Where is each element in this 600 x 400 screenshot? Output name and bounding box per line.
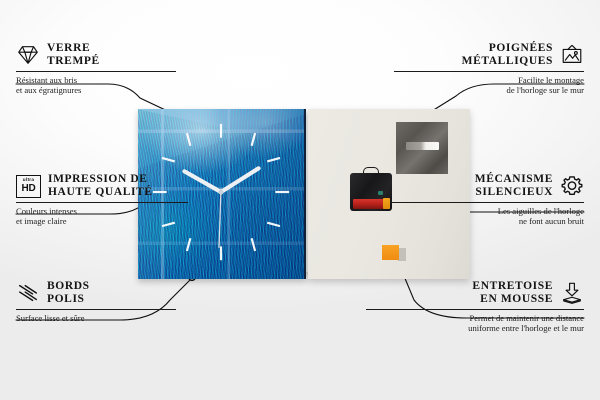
movement-body (350, 173, 392, 211)
feature-header: VERRE TREMPÉ (16, 42, 176, 68)
feature-subtitle: Couleurs intenses et image claire (16, 206, 188, 227)
feature-subtitle: Les aiguilles de l'horloge ne font aucun… (390, 206, 584, 227)
feature-header: MÉCANISME SILENCIEUX (390, 173, 584, 199)
feature-bords-polis: BORDS POLIS Surface lisse et sûre (16, 280, 176, 323)
feature-poignees-metalliques: POIGNÉES MÉTALLIQUES Facilite le montage… (394, 42, 584, 96)
clock-center-cap (218, 189, 223, 194)
diamond-icon (16, 43, 40, 67)
gear-icon (560, 174, 584, 198)
metal-hanger-plate (396, 122, 448, 174)
feature-title: POIGNÉES MÉTALLIQUES (462, 42, 553, 68)
feature-divider (366, 309, 584, 310)
hanger-slot (406, 142, 439, 150)
feature-title: BORDS POLIS (47, 280, 90, 306)
feature-divider (390, 202, 584, 203)
feature-mecanisme-silencieux: MÉCANISME SILENCIEUX Les aiguilles de l'… (390, 173, 584, 227)
movement-label (378, 191, 383, 195)
feature-subtitle: Permet de maintenir une distance uniform… (366, 313, 584, 334)
battery-positive-terminal (383, 198, 390, 209)
feature-subtitle: Résistant aux bris et aux égratignures (16, 75, 176, 96)
feature-title: MÉCANISME SILENCIEUX (475, 173, 553, 199)
feature-divider (16, 309, 176, 310)
feature-title: IMPRESSION DE HAUTE QUALITÉ (48, 173, 153, 199)
quartz-movement (350, 167, 392, 211)
feature-verre-trempe: VERRE TREMPÉ Résistant aux bris et aux é… (16, 42, 176, 96)
clock-hands (184, 168, 258, 247)
product-infographic: VERRE TREMPÉ Résistant aux bris et aux é… (0, 0, 600, 400)
feature-header: POIGNÉES MÉTALLIQUES (394, 42, 584, 68)
foam-spacer-shadow (398, 248, 406, 261)
feature-header: BORDS POLIS (16, 280, 176, 306)
ultra-hd-badge-main-label: HD (21, 184, 35, 194)
feature-entretoise-en-mousse: ENTRETOISE EN MOUSSE Permet de maintenir… (366, 280, 584, 334)
feature-divider (16, 71, 176, 72)
feature-title: ENTRETOISE EN MOUSSE (472, 280, 553, 306)
feature-header: ENTRETOISE EN MOUSSE (366, 280, 584, 306)
clock-second-hand (219, 189, 221, 247)
foam-spacer (382, 245, 399, 260)
feature-header: ultra HD IMPRESSION DE HAUTE QUALITÉ (16, 173, 188, 199)
clock-hour-hand (184, 171, 221, 192)
clock-minute-hand (221, 168, 259, 192)
battery (353, 199, 386, 209)
polished-edge-lines-icon (16, 281, 40, 305)
feature-subtitle: Surface lisse et sûre (16, 313, 176, 323)
feature-impression-haute-qualite: ultra HD IMPRESSION DE HAUTE QUALITÉ Cou… (16, 173, 188, 227)
foam-spacer-arrow-icon (560, 281, 584, 305)
feature-subtitle: Facilite le montage de l'horloge sur le … (394, 75, 584, 96)
wall-mount-frame-icon (560, 43, 584, 67)
feature-title: VERRE TREMPÉ (47, 42, 100, 68)
feature-divider (16, 202, 188, 203)
ultra-hd-badge-icon: ultra HD (16, 175, 41, 198)
feature-divider (394, 71, 584, 72)
